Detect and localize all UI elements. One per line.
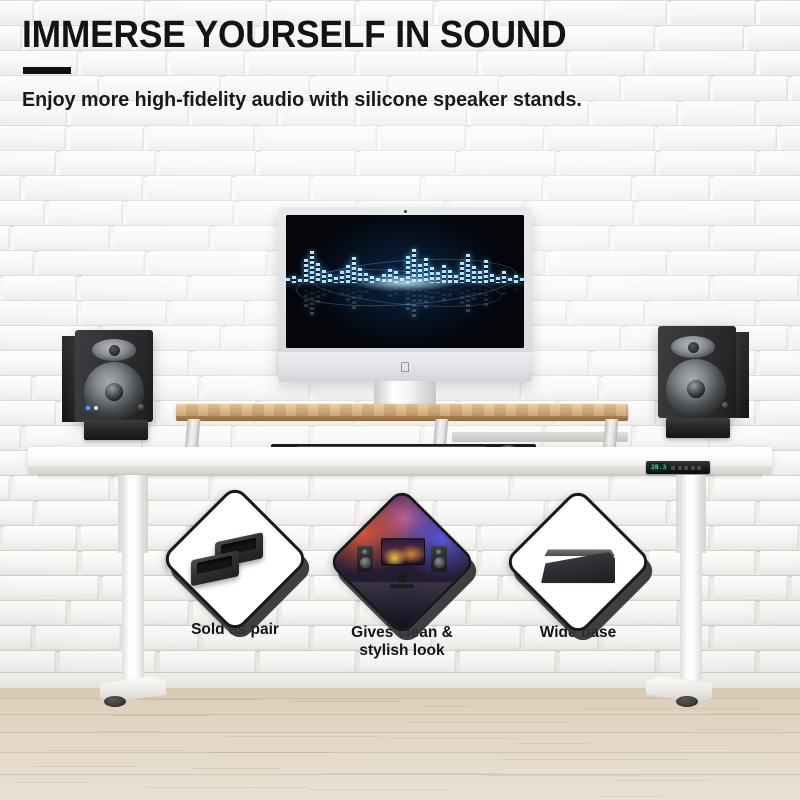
floor-grain	[97, 731, 160, 732]
rgb-speaker-left	[357, 546, 373, 572]
equalizer-bar	[334, 277, 338, 283]
monitor-stand-neck	[374, 381, 436, 406]
floor-grain	[291, 701, 400, 702]
speaker-left-tweeter	[92, 339, 136, 361]
callout-1-image	[164, 492, 306, 634]
webcam-icon	[404, 210, 407, 213]
desk-preset-button-2[interactable]	[678, 466, 682, 470]
accent-rule	[23, 67, 71, 74]
floor-plank-seam	[0, 752, 800, 753]
floor-grain	[485, 775, 640, 776]
equalizer-bar	[304, 259, 308, 283]
callout-3-card	[503, 487, 653, 637]
silicone-stand-right	[666, 418, 730, 438]
desk-preset-button-1[interactable]	[671, 466, 675, 470]
equalizer-visualization	[286, 215, 524, 348]
floor-grain	[679, 745, 730, 746]
equalizer-bar	[472, 266, 476, 283]
callout-2-label-line2: stylish look	[340, 642, 464, 660]
speaker-left-volume-knob	[138, 404, 144, 410]
floor-grain	[32, 766, 140, 767]
floor-grain	[501, 759, 690, 760]
floor-grain	[388, 738, 520, 739]
equalizer-bar	[310, 283, 314, 315]
equalizer-bar	[490, 283, 494, 292]
equalizer-bar	[460, 262, 464, 283]
callout-1-card	[160, 484, 310, 634]
floor-plank-seam	[0, 732, 800, 733]
apple-logo-icon: 	[400, 360, 411, 374]
floor-grain	[404, 722, 570, 723]
equalizer-bar	[478, 283, 482, 295]
floor-grain	[48, 750, 190, 751]
equalizer-bar	[496, 277, 500, 283]
equalizer-bar	[292, 283, 296, 290]
equalizer-bar	[520, 283, 524, 287]
speaker-left-power-led	[86, 406, 90, 410]
equalizer-bar	[316, 283, 320, 303]
product-marketing-image: IMMERSE YOURSELF IN SOUND Enjoy more hig…	[0, 0, 800, 800]
equalizer-bar	[316, 263, 320, 283]
floor-grain	[145, 787, 310, 788]
speaker-left-status-led	[94, 406, 98, 410]
floor-grain	[16, 782, 90, 783]
floor-grain	[695, 729, 780, 730]
desk-preset-button-3[interactable]	[684, 466, 688, 470]
silicone-stand-left	[84, 420, 148, 440]
speaker-left-cabinet	[75, 330, 153, 422]
rgb-speaker-right	[431, 546, 447, 572]
callout-wide-base[interactable]: Wide base	[516, 509, 640, 642]
equalizer-bar	[304, 283, 308, 307]
rgb-speaker-left-tweeter	[362, 549, 368, 555]
equalizer-bar	[460, 283, 464, 304]
floor-plank-seam	[0, 774, 800, 775]
speaker-left-woofer	[84, 362, 144, 422]
equalizer-bar	[478, 271, 482, 283]
monitor-screen	[286, 215, 524, 348]
floor-grain	[226, 736, 380, 737]
floor-grain	[129, 699, 260, 700]
desk-caster-left	[104, 696, 126, 707]
equalizer-bar	[340, 271, 344, 282]
desk-down-button[interactable]	[697, 466, 701, 470]
speaker-left	[62, 330, 162, 448]
riser-under-shelf	[452, 432, 628, 442]
floor-grain	[420, 706, 470, 707]
rgb-speaker-right-woofer	[434, 557, 445, 568]
equalizer-bar	[298, 283, 302, 287]
equalizer-bar	[514, 283, 518, 291]
rgb-lighting-scene	[331, 495, 473, 637]
equalizer-bar	[466, 254, 470, 283]
equalizer-bar	[322, 270, 326, 283]
equalizer-bar	[472, 283, 476, 300]
silicone-stand-front	[191, 550, 239, 586]
page-title: IMMERSE YOURSELF IN SOUND	[22, 14, 673, 56]
callout-1-diamond	[182, 506, 288, 612]
floor-grain	[517, 743, 590, 744]
callout-stylish-look[interactable]: Gives clean & stylish look	[340, 509, 464, 660]
floor-grain	[194, 768, 280, 769]
speaker-right-cabinet	[658, 326, 736, 418]
equalizer-bar	[508, 283, 512, 288]
equalizer-bar	[286, 283, 290, 287]
equalizer-bar	[310, 251, 314, 283]
equalizer-bar	[502, 283, 506, 294]
speaker-right-woofer	[666, 359, 726, 419]
desk-control-panel[interactable]: 28.3	[646, 461, 710, 474]
speaker-right-tweeter	[671, 336, 715, 358]
equalizer-bar	[490, 274, 494, 283]
floor-grain	[113, 715, 210, 716]
rgb-monitor	[381, 538, 425, 565]
speaker-right	[652, 326, 752, 448]
desk-leg-right	[680, 475, 702, 680]
equalizer-bar	[484, 283, 488, 306]
rgb-speaker-left-woofer	[360, 557, 371, 568]
callout-3-diamond	[525, 509, 631, 615]
equalizer-bar	[466, 283, 470, 312]
rgb-speaker-right-tweeter	[436, 549, 442, 555]
callout-sold-as-pair[interactable]: Sold as pair	[173, 506, 297, 639]
floor-grain	[582, 708, 760, 709]
equalizer-bar	[496, 283, 500, 289]
equalizer-bar	[346, 265, 350, 283]
floor-grain	[323, 773, 500, 774]
floor-grain	[0, 694, 40, 695]
equalizer-bar	[292, 276, 296, 283]
equalizer-bar	[322, 283, 326, 296]
floor-grain	[210, 752, 330, 753]
callout-2-image	[331, 495, 473, 637]
equalizer-bar	[328, 283, 332, 292]
monitor-riser-front	[176, 416, 628, 421]
floor-grain	[307, 789, 450, 790]
floor-grain	[598, 796, 660, 797]
equalizer-bar	[346, 283, 350, 301]
equalizer-bar	[340, 283, 344, 294]
equalizer-bar	[328, 274, 332, 283]
rgb-monitor-stand	[398, 573, 406, 582]
callout-2-card	[327, 487, 477, 637]
floor-grain	[614, 780, 710, 781]
callout-2-diamond	[349, 509, 455, 615]
rgb-monitor-wallpaper	[382, 539, 424, 564]
equalizer-glow	[353, 274, 458, 293]
rgb-monitor-base	[390, 585, 414, 589]
floor-grain	[711, 713, 800, 714]
wedge-stand-lip	[543, 549, 615, 556]
speaker-right-volume-knob	[722, 402, 728, 408]
header-block: IMMERSE YOURSELF IN SOUND Enjoy more hig…	[22, 14, 722, 113]
page-subtitle: Enjoy more high-fidelity audio with sili…	[22, 87, 598, 113]
desk-height-display: 28.3	[649, 463, 669, 472]
equalizer-bar	[514, 275, 518, 283]
desk-leg-left	[122, 475, 144, 680]
equalizer-bar	[334, 283, 338, 289]
speaker-right-side-panel	[734, 332, 749, 418]
callout-3-image	[507, 495, 649, 637]
desk-up-button[interactable]	[691, 466, 695, 470]
equalizer-bar	[484, 260, 488, 283]
equalizer-bar	[502, 271, 506, 282]
desk-caster-right	[676, 696, 698, 707]
imac-monitor: 	[278, 207, 532, 382]
monitor-chin: 	[278, 352, 532, 382]
